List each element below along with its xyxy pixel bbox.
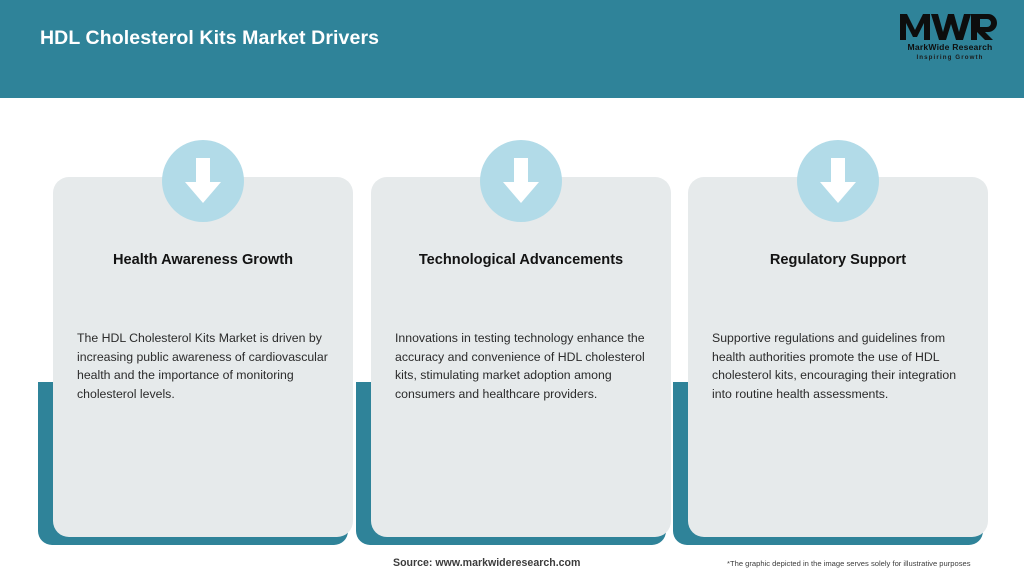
card-panel[interactable]: Technological Advancements Innovations i…: [371, 177, 671, 537]
card-title: Technological Advancements: [385, 251, 657, 270]
card-title: Health Awareness Growth: [67, 251, 339, 270]
arrow-down-icon: [797, 140, 879, 222]
mwr-monogram-icon: [898, 10, 1002, 42]
arrow-down-glyph: [502, 158, 540, 204]
card-panel[interactable]: Health Awareness Growth The HDL Choleste…: [53, 177, 353, 537]
card-description: The HDL Cholesterol Kits Market is drive…: [77, 329, 333, 403]
card-panel[interactable]: Regulatory Support Supportive regulation…: [688, 177, 988, 537]
page-title: HDL Cholesterol Kits Market Drivers: [40, 27, 379, 50]
brand-tagline: Inspiring Growth: [898, 53, 1002, 62]
slide-canvas: HDL Cholesterol Kits Market Drivers Mark…: [0, 0, 1024, 576]
card-description: Supportive regulations and guidelines fr…: [712, 329, 968, 403]
arrow-down-icon: [162, 140, 244, 222]
brand-logo: MarkWide Research Inspiring Growth: [898, 10, 1002, 72]
header-band: HDL Cholesterol Kits Market Drivers Mark…: [0, 0, 1024, 98]
disclaimer-label: *The graphic depicted in the image serve…: [727, 559, 971, 568]
brand-name: MarkWide Research: [898, 42, 1002, 53]
card-title: Regulatory Support: [702, 251, 974, 270]
arrow-down-glyph: [184, 158, 222, 204]
card-description: Innovations in testing technology enhanc…: [395, 329, 651, 403]
arrow-down-icon: [480, 140, 562, 222]
arrow-down-glyph: [819, 158, 857, 204]
source-label: Source: www.markwideresearch.com: [393, 557, 580, 569]
